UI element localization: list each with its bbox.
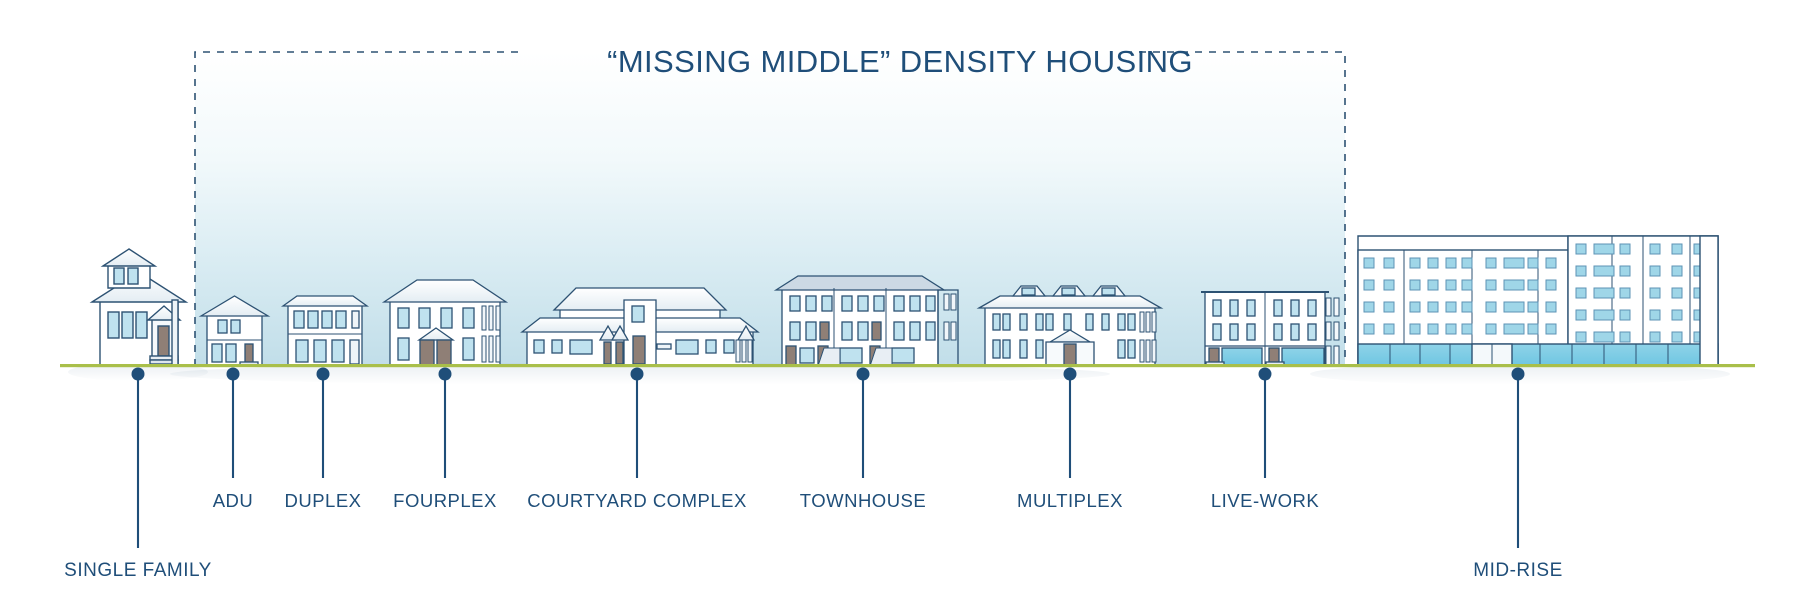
label-fourplex: FOURPLEX [393,490,497,512]
label-single-family: SINGLE FAMILY [64,560,212,582]
building-fourplex [384,280,506,366]
building-multiplex [979,286,1161,366]
building-single-family [92,249,186,366]
bracket-gradient-field [195,52,1345,366]
building-mid-rise [1358,236,1718,366]
leader-lines [132,368,1525,549]
building-townhouse [776,276,958,366]
label-duplex: DUPLEX [284,490,361,512]
housing-density-diagram: “MISSING MIDDLE” DENSITY HOUSING ADU DUP… [0,0,1800,600]
label-courtyard-complex: COURTYARD COMPLEX [527,490,747,512]
ground-line [60,364,1755,367]
label-adu: ADU [213,490,254,512]
label-mid-rise: MID-RISE [1473,560,1563,582]
label-townhouse: TOWNHOUSE [800,490,926,512]
page-title: “MISSING MIDDLE” DENSITY HOUSING [0,44,1800,80]
label-multiplex: MULTIPLEX [1017,490,1123,512]
building-live-work [1201,292,1339,366]
label-live-work: LIVE-WORK [1211,490,1319,512]
building-duplex [283,296,367,366]
